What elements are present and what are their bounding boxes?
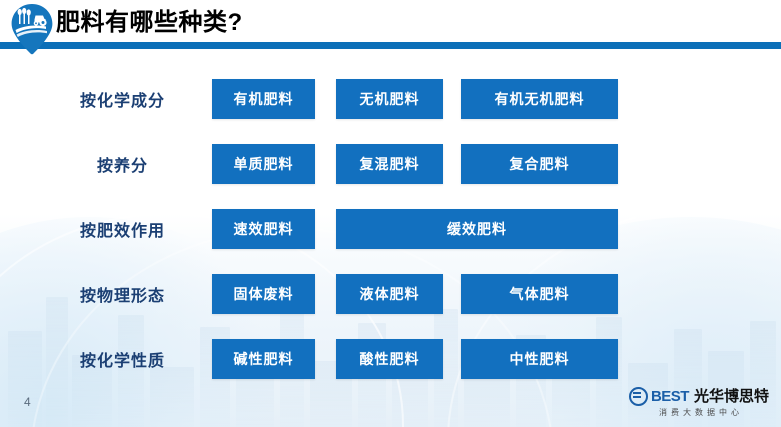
slide-canvas: 肥料有哪些种类? 按化学成分 有机肥料 无机肥料 有机无机肥料 按养分 单质肥料… (0, 0, 781, 427)
brand-subtitle: 消费大数据中心 (655, 409, 743, 417)
table-row: 按肥效作用 速效肥料 缓效肥料 (0, 196, 781, 261)
row-label-chemical-composition: 按化学成分 (55, 87, 190, 111)
table-row: 按物理形态 固体废料 液体肥料 气体肥料 (0, 261, 781, 326)
cell-inorganic-fertilizer[interactable]: 无机肥料 (336, 79, 443, 119)
cell-organic-inorganic-fertilizer[interactable]: 有机无机肥料 (461, 79, 618, 119)
table-row: 按化学性质 碱性肥料 酸性肥料 中性肥料 (0, 326, 781, 391)
page-title: 肥料有哪些种类? (56, 6, 243, 40)
brand-logo: BEST 光华博思特 消费大数据中心 (629, 387, 769, 417)
cell-slow-release-fertilizer[interactable]: 缓效肥料 (336, 209, 618, 249)
cell-single-nutrient-fertilizer[interactable]: 单质肥料 (212, 144, 315, 184)
brand-name-text: 光华博思特 (694, 389, 769, 404)
row-label-physical-form: 按物理形态 (55, 282, 190, 306)
cell-compound-fertilizer[interactable]: 复合肥料 (461, 144, 618, 184)
cell-gaseous-fertilizer[interactable]: 气体肥料 (461, 274, 618, 314)
header-accent-bar (0, 42, 781, 49)
cell-liquid-fertilizer[interactable]: 液体肥料 (336, 274, 443, 314)
cell-neutral-fertilizer[interactable]: 中性肥料 (461, 339, 618, 379)
row-label-fertilizer-effect: 按肥效作用 (55, 217, 190, 241)
row-label-nutrient: 按养分 (55, 152, 190, 176)
page-number: 4 (24, 395, 31, 409)
brand-logo-row: BEST 光华博思特 (629, 387, 769, 406)
cell-alkaline-fertilizer[interactable]: 碱性肥料 (212, 339, 315, 379)
cell-blended-fertilizer[interactable]: 复混肥料 (336, 144, 443, 184)
table-row: 按化学成分 有机肥料 无机肥料 有机无机肥料 (0, 66, 781, 131)
table-row: 按养分 单质肥料 复混肥料 复合肥料 (0, 131, 781, 196)
map-pin-farm-logo (10, 3, 54, 55)
row-label-chemical-property: 按化学性质 (55, 347, 190, 371)
brand-emblem-icon (629, 387, 648, 406)
cell-organic-fertilizer[interactable]: 有机肥料 (212, 79, 315, 119)
cell-acidic-fertilizer[interactable]: 酸性肥料 (336, 339, 443, 379)
brand-est-text: BEST (651, 389, 689, 404)
category-table: 按化学成分 有机肥料 无机肥料 有机无机肥料 按养分 单质肥料 复混肥料 复合肥… (0, 66, 781, 391)
cell-quick-acting-fertilizer[interactable]: 速效肥料 (212, 209, 315, 249)
cell-solid-fertilizer[interactable]: 固体废料 (212, 274, 315, 314)
